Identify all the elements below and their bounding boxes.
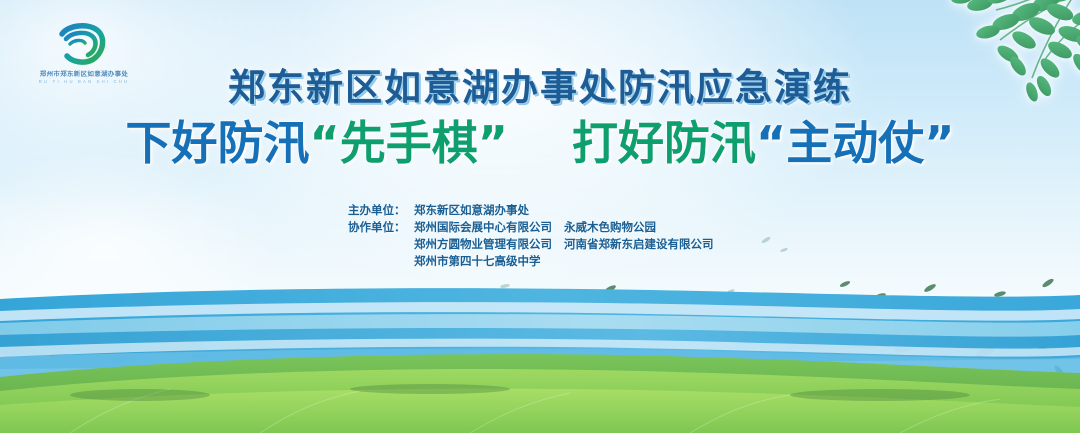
organizer-list: 主办单位： 郑东新区如意湖办事处 协作单位： 郑州国际会展中心有限公司 永威木色… bbox=[348, 202, 714, 270]
host-line: 主办单位： 郑东新区如意湖办事处 bbox=[348, 202, 714, 219]
partner-spacer-3 bbox=[348, 253, 414, 270]
partner-3-a: 郑州市第四十七高级中学 bbox=[414, 253, 564, 270]
partner-1-b: 永威木色购物公园 bbox=[564, 219, 656, 236]
subtitle-right-blue: “主动仗” bbox=[756, 116, 954, 170]
partner-line-1: 协作单位： 郑州国际会展中心有限公司 永威木色购物公园 bbox=[348, 219, 714, 236]
host-label: 主办单位： bbox=[348, 202, 414, 219]
partner-2-a: 郑州方圆物业管理有限公司 bbox=[414, 236, 564, 253]
subtitle-left-blue: 下好防汛 bbox=[126, 116, 310, 170]
partner-line-3: 郑州市第四十七高级中学 bbox=[348, 253, 714, 270]
subtitle-row: 下好防汛“先手棋” 打好防汛“主动仗” bbox=[0, 115, 1080, 173]
subtitle-right-green: 打好防汛 bbox=[572, 116, 756, 170]
flood-drill-banner: 郑州市郑东新区如意湖办事处 RU YI HU BAN SHI CHU 郑东新区如… bbox=[0, 0, 1080, 433]
partner-label: 协作单位： bbox=[348, 219, 414, 236]
host-value: 郑东新区如意湖办事处 bbox=[414, 202, 529, 219]
subtitle-left-green: “先手棋” bbox=[310, 116, 508, 170]
partner-2-b: 河南省郑新东启建设有限公司 bbox=[564, 236, 714, 253]
partner-spacer-2 bbox=[348, 236, 414, 253]
partner-1-a: 郑州国际会展中心有限公司 bbox=[414, 219, 564, 236]
subtitle-left: 下好防汛“先手棋” bbox=[126, 115, 508, 173]
subtitle-right: 打好防汛“主动仗” bbox=[572, 115, 954, 173]
main-title: 郑东新区如意湖办事处防汛应急演练 bbox=[0, 57, 1080, 111]
lake-and-grass-scene bbox=[0, 273, 1080, 433]
partner-line-2: 郑州方圆物业管理有限公司 河南省郑新东启建设有限公司 bbox=[348, 236, 714, 253]
